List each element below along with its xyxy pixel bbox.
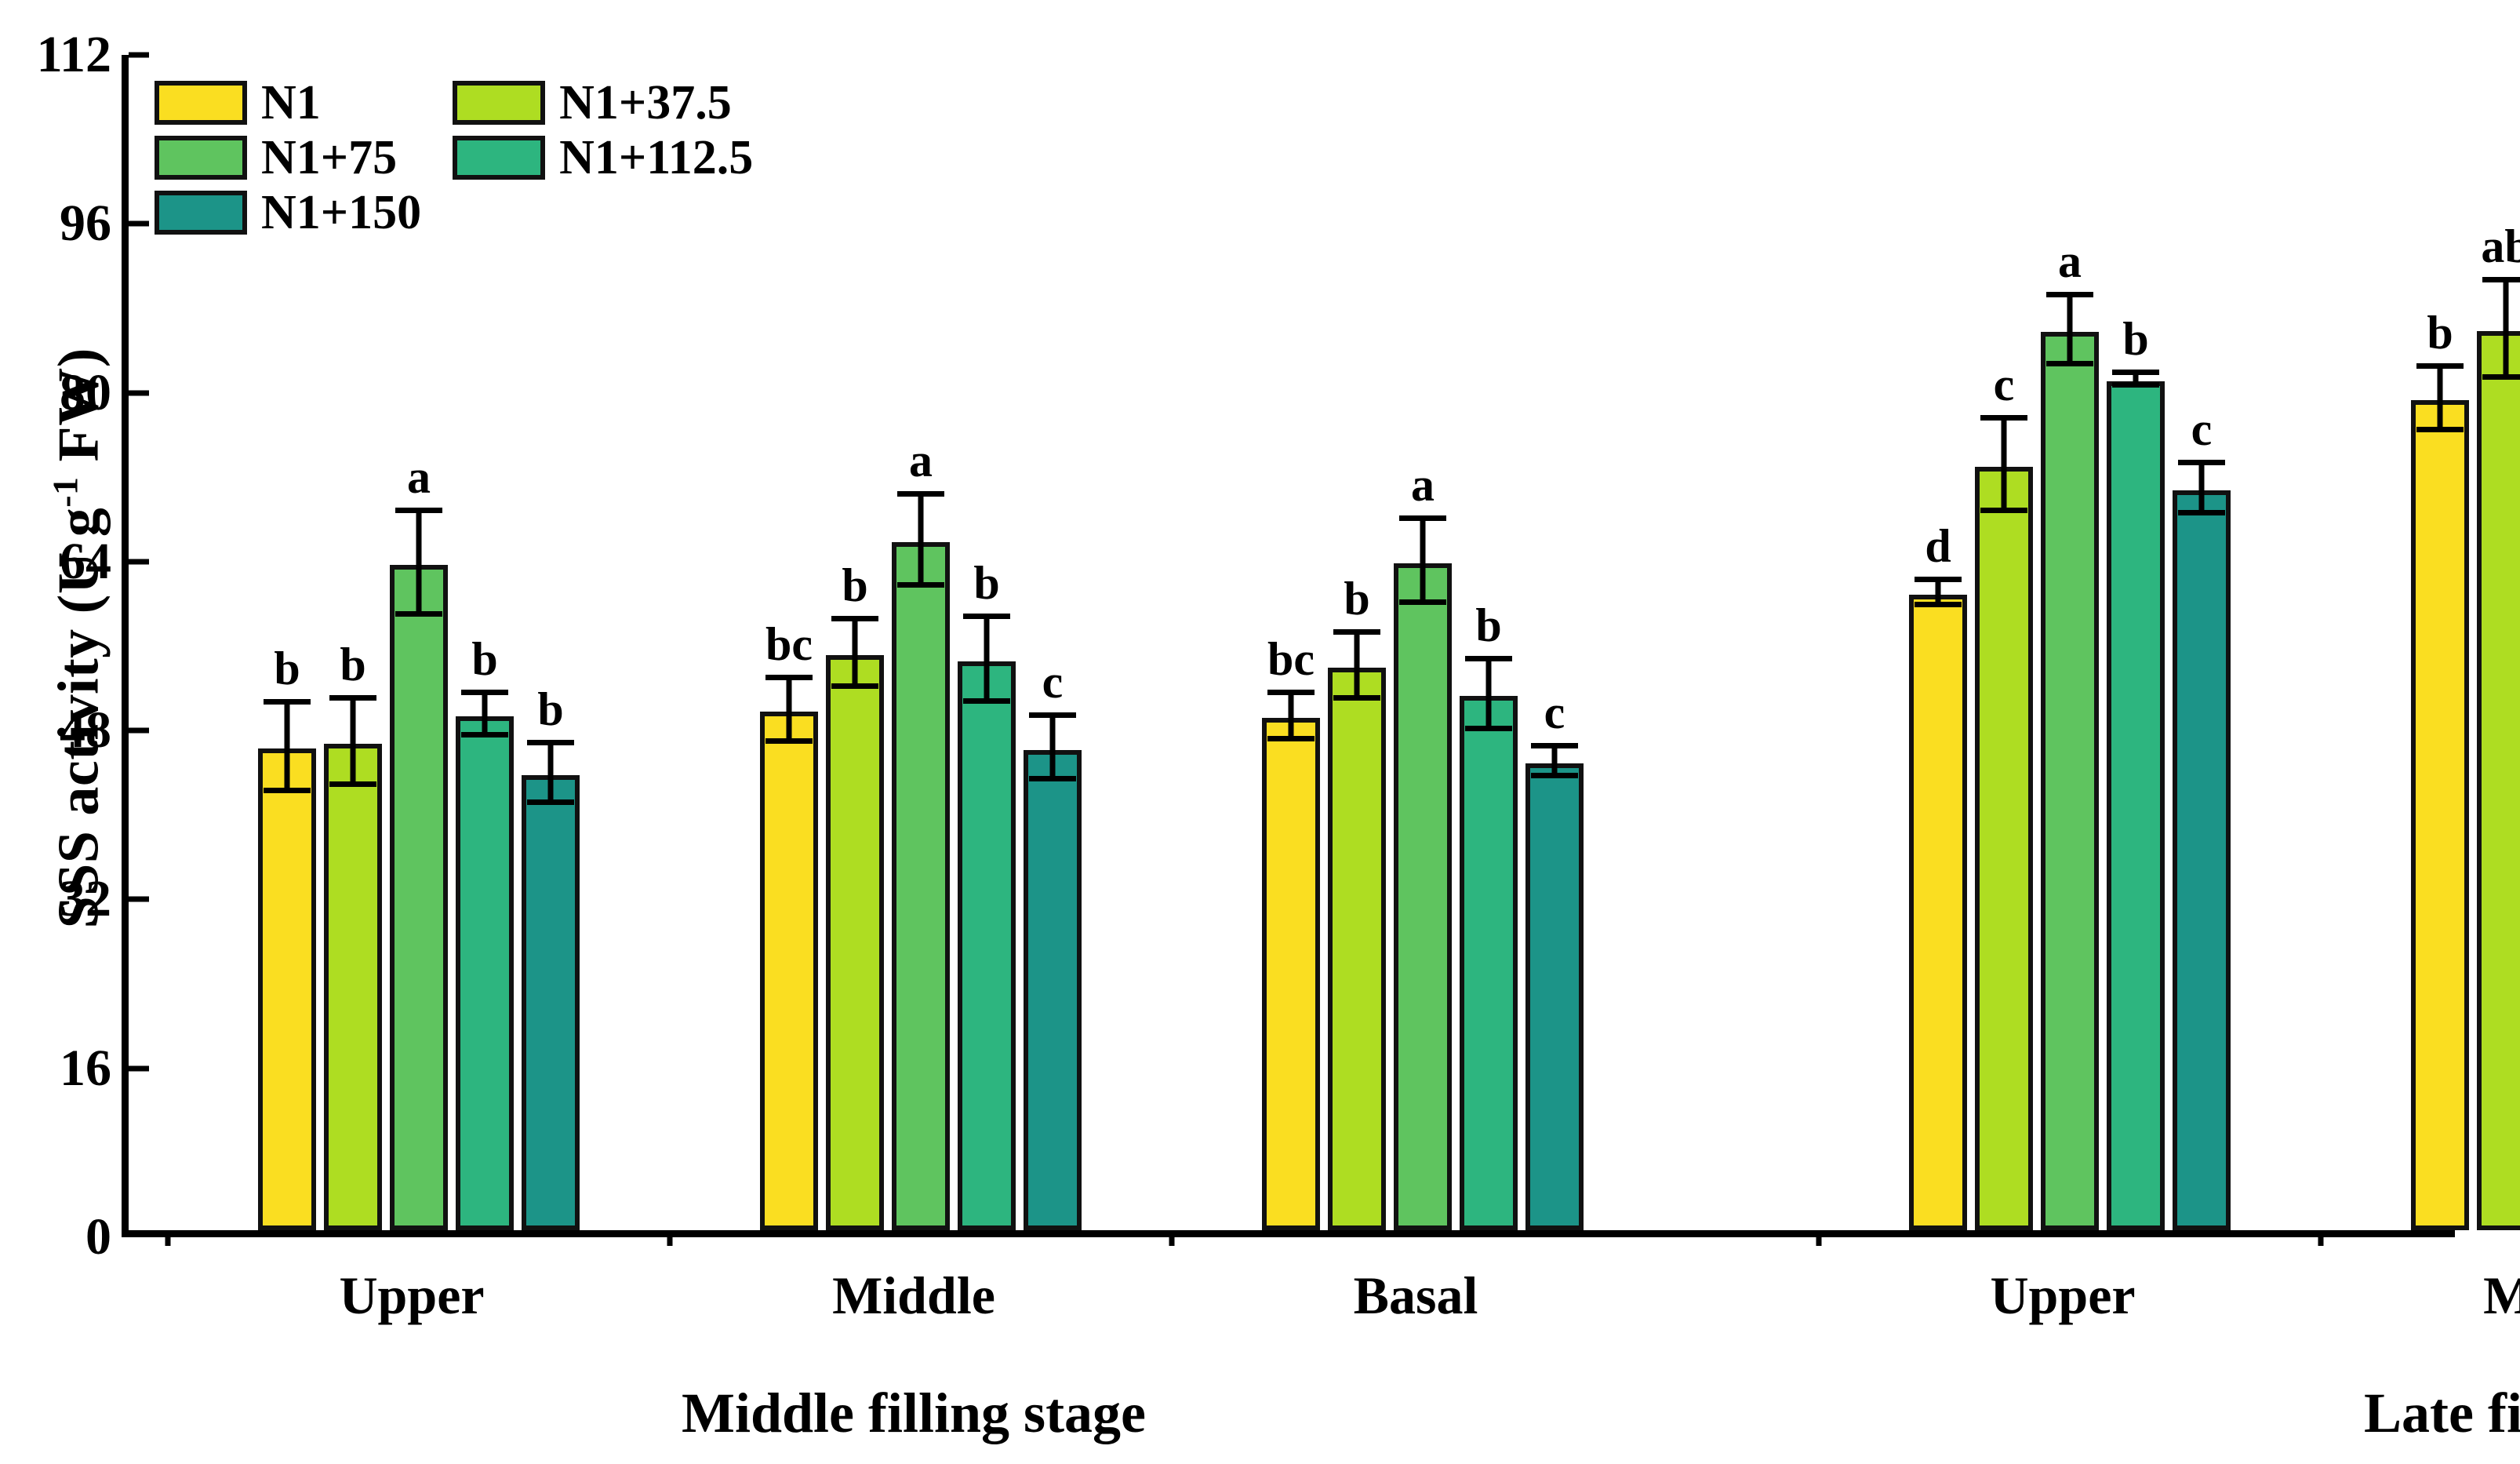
legend-color-swatch (453, 81, 545, 125)
y-axis-tick-label: 80 (60, 367, 111, 419)
error-bar (787, 680, 792, 744)
x-axis-category-label: Middle (832, 1265, 995, 1327)
bar[interactable] (958, 661, 1016, 1230)
error-bar (548, 745, 554, 804)
error-bar-cap-upper (264, 699, 311, 705)
bar-slot[interactable]: a (1394, 55, 1452, 1230)
error-bar-cap-lower (831, 683, 878, 689)
x-axis-tick-mark (2318, 1230, 2324, 1246)
error-bar-cap-lower (1267, 736, 1315, 741)
error-bar-cap-upper (395, 508, 442, 513)
y-axis-tick-label: 32 (60, 873, 111, 925)
significance-letter: bc (765, 621, 813, 668)
error-bar-cap-upper (329, 695, 376, 701)
legend-label: N1+112.5 (559, 133, 753, 182)
bar-group: bcbabc (1262, 55, 1584, 1230)
significance-letter: bc (1267, 635, 1315, 683)
legend-item[interactable]: N1+75 (155, 133, 421, 182)
bar-slot[interactable]: b (958, 55, 1016, 1230)
legend-label: N1+37.5 (559, 78, 732, 127)
significance-letter: c (1042, 658, 1064, 705)
error-bar (984, 619, 990, 704)
legend-label: N1 (261, 78, 321, 127)
error-bar-cap-upper (1465, 656, 1512, 661)
y-axis-title: SSS activity (U g-1 FW) (45, 89, 113, 1187)
x-axis-tick-mark (1816, 1230, 1822, 1246)
x-axis-category-label: Upper (339, 1265, 484, 1327)
error-bar (1420, 521, 1426, 606)
error-bar-cap-upper (1531, 743, 1578, 748)
bar[interactable] (1394, 563, 1452, 1230)
significance-letter: b (973, 559, 999, 606)
bar[interactable] (390, 565, 448, 1230)
significance-letter: b (537, 686, 563, 733)
legend-item[interactable]: N1+37.5 (453, 78, 753, 127)
significance-letter: b (1475, 602, 1501, 649)
significance-letter: c (1994, 361, 2015, 408)
error-bar-cap-lower (2178, 510, 2225, 515)
legend-item[interactable]: N1+150 (155, 188, 421, 237)
error-bar-cap-lower (1465, 726, 1512, 731)
error-bar-cap-lower (264, 788, 311, 793)
significance-letter: b (274, 645, 300, 692)
significance-letter: c (1544, 689, 1565, 736)
error-bar-cap-lower (2046, 361, 2093, 366)
significance-letter: b (842, 562, 867, 609)
error-bar-cap-lower (1029, 776, 1076, 781)
error-bar (2504, 282, 2509, 380)
error-bar-cap-lower (2416, 427, 2464, 432)
error-bar-cap-lower (2112, 382, 2159, 388)
bar[interactable] (324, 744, 382, 1230)
significance-letter: a (1411, 461, 1435, 508)
bar[interactable] (522, 775, 580, 1230)
bar[interactable] (826, 655, 884, 1230)
bar[interactable] (2477, 331, 2520, 1230)
error-bar-cap-upper (2178, 460, 2225, 465)
error-bar (1289, 695, 1294, 741)
significance-letter: a (407, 453, 431, 501)
legend: N1N1+37.5N1+75N1+112.5N1+150 (145, 75, 761, 243)
error-bar-cap-upper (1333, 629, 1380, 635)
error-bar (2438, 369, 2443, 432)
error-bar-cap-lower (2482, 374, 2520, 380)
error-bar-cap-upper (2482, 277, 2520, 282)
bar-group: bcbabc (760, 55, 1082, 1230)
bar[interactable] (2411, 400, 2469, 1230)
significance-letter: b (471, 635, 497, 683)
significance-letter: c (2191, 406, 2213, 453)
legend-label: N1+75 (261, 133, 397, 182)
error-bar (1050, 718, 1056, 781)
legend-color-swatch (453, 136, 545, 180)
error-bar (918, 497, 924, 588)
error-bar-cap-upper (527, 740, 574, 745)
error-bar-cap-lower (1333, 695, 1380, 701)
bar-group: dcabc (1909, 55, 2231, 1230)
x-axis-category-label: Middle (2483, 1265, 2520, 1327)
x-axis-tick-mark (1169, 1230, 1175, 1246)
y-axis-tick-label: 48 (60, 705, 111, 756)
x-axis-category-label: Basal (1354, 1265, 1478, 1327)
legend-color-swatch (155, 136, 247, 180)
significance-letter: d (1925, 523, 1951, 570)
error-bar-cap-upper (2112, 370, 2159, 375)
error-bar-cap-upper (831, 616, 878, 621)
error-bar-cap-upper (1267, 690, 1315, 695)
x-axis-stage-label: Middle filling stage (682, 1381, 1146, 1446)
bar-slot[interactable]: bc (760, 55, 818, 1230)
significance-letter: b (2122, 315, 2148, 362)
error-bar-cap-upper (461, 690, 508, 695)
error-bar-cap-upper (2416, 363, 2464, 369)
error-bar (482, 695, 488, 737)
bar[interactable] (1024, 750, 1082, 1230)
bar-slot[interactable]: b (1328, 55, 1386, 1230)
error-bar-cap-lower (329, 781, 376, 787)
bar-slot[interactable]: a (2041, 55, 2099, 1230)
y-axis-tick-label: 96 (60, 198, 111, 249)
x-axis-tick-mark (667, 1230, 673, 1246)
error-bar-cap-lower (1980, 508, 2027, 513)
error-bar-cap-lower (461, 732, 508, 737)
legend-item[interactable]: N1 (155, 78, 421, 127)
significance-letter: a (2058, 238, 2082, 285)
error-bar (1486, 661, 1492, 731)
error-bar-cap-lower (963, 698, 1010, 704)
bar[interactable] (2041, 332, 2099, 1230)
error-bar-cap-upper (2046, 292, 2093, 297)
bar-slot[interactable]: b (2107, 55, 2165, 1230)
error-bar-cap-upper (1915, 577, 1962, 582)
x-axis-stage-label: Late filling stage (2364, 1381, 2520, 1446)
significance-letter: b (2427, 309, 2453, 356)
error-bar-cap-upper (1980, 415, 2027, 421)
significance-letter: b (340, 641, 365, 688)
bar-slot[interactable]: c (2173, 55, 2231, 1230)
error-bar (853, 621, 858, 689)
legend-item[interactable]: N1+112.5 (453, 133, 753, 182)
error-bar-cap-upper (897, 491, 944, 497)
error-bar (285, 705, 290, 793)
y-axis-tick-label: 112 (37, 29, 111, 81)
error-bar (2199, 465, 2205, 516)
legend-color-swatch (155, 191, 247, 235)
legend-color-swatch (155, 81, 247, 125)
error-bar-cap-upper (1029, 712, 1076, 718)
error-bar (1355, 635, 1360, 700)
error-bar-cap-lower (897, 582, 944, 588)
bar-slot[interactable]: c (1525, 55, 1584, 1230)
error-bar-cap-upper (963, 614, 1010, 619)
error-bar-cap-upper (765, 675, 813, 680)
bar-slot[interactable]: b (1460, 55, 1518, 1230)
x-axis-tick-mark (165, 1230, 171, 1246)
significance-letter: a (909, 437, 933, 484)
bar-slot[interactable]: b (2411, 55, 2469, 1230)
error-bar (416, 513, 422, 617)
bar-slot[interactable]: d (1909, 55, 1967, 1230)
bar[interactable] (456, 716, 514, 1230)
error-bar-cap-lower (527, 799, 574, 805)
bar[interactable] (2173, 490, 2231, 1230)
x-axis-category-label: Upper (1990, 1265, 2135, 1327)
bar[interactable] (1460, 696, 1518, 1230)
bar-group: babaabb (2411, 55, 2520, 1230)
error-bar-cap-lower (1399, 599, 1446, 605)
bar-slot[interactable]: a (892, 55, 950, 1230)
bar-slot[interactable]: c (1975, 55, 2033, 1230)
legend-label: N1+150 (261, 188, 421, 237)
significance-letter: ab (2481, 223, 2520, 270)
error-bar-cap-upper (1399, 515, 1446, 521)
bar[interactable] (1909, 595, 1967, 1230)
bar[interactable] (760, 712, 818, 1230)
bar-slot[interactable]: b (826, 55, 884, 1230)
bar[interactable] (1525, 763, 1584, 1230)
error-bar-cap-lower (1531, 773, 1578, 778)
error-bar-cap-lower (1915, 602, 1962, 607)
error-bar-cap-lower (395, 611, 442, 617)
error-bar (2002, 421, 2007, 513)
error-bar (351, 701, 356, 787)
y-axis-title-superscript: -1 (45, 477, 85, 508)
significance-letter: b (1344, 575, 1369, 622)
bar-slot[interactable]: bc (1262, 55, 1320, 1230)
y-axis-tick-label: 0 (85, 1211, 111, 1263)
bar[interactable] (1328, 668, 1386, 1230)
bar[interactable] (1975, 467, 2033, 1230)
bar-slot[interactable]: c (1024, 55, 1082, 1230)
bar[interactable] (258, 748, 316, 1230)
bar[interactable] (1262, 718, 1320, 1230)
error-bar-cap-lower (765, 738, 813, 744)
error-bar (2067, 297, 2073, 367)
bar-slot[interactable]: ab (2477, 55, 2520, 1230)
bar[interactable] (892, 542, 950, 1230)
y-axis-tick-label: 16 (60, 1043, 111, 1094)
sss-activity-bar-chart: SSS activity (U g-1 FW) 0163248648096112… (0, 0, 2520, 1464)
bar[interactable] (2107, 381, 2165, 1230)
y-axis-tick-label: 64 (60, 536, 111, 588)
